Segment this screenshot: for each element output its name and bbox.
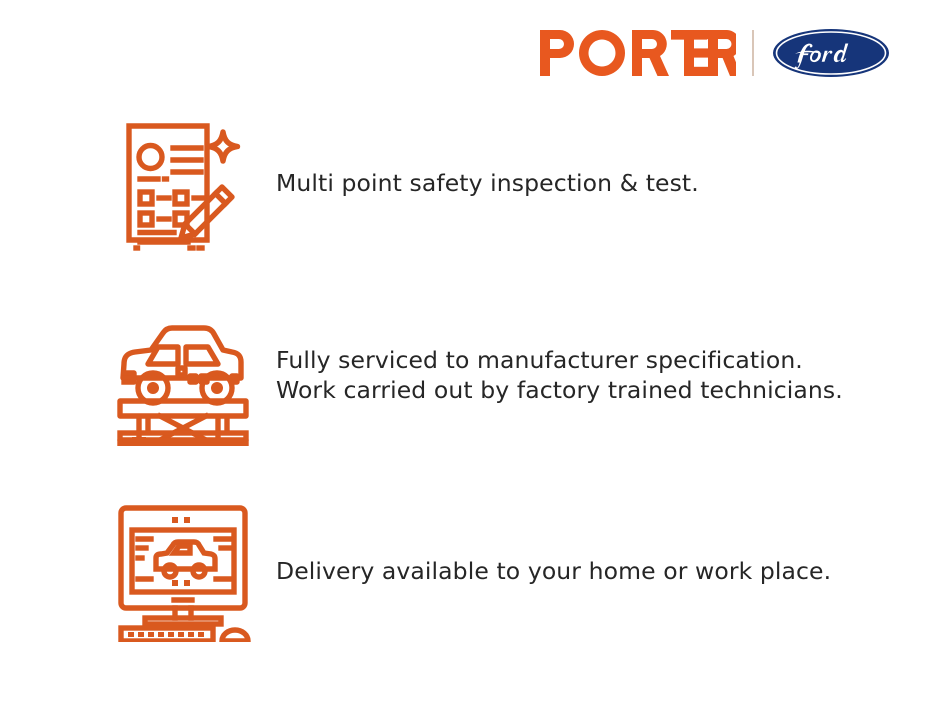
- feature-row: Multi point safety inspection & test.: [110, 108, 900, 258]
- porter-wordmark: [540, 22, 736, 84]
- ford-logo-icon: [772, 28, 890, 78]
- monitor-car-delivery-icon: [110, 498, 256, 644]
- feature-row: Delivery available to your home or work …: [110, 496, 900, 646]
- feature-text: Multi point safety inspection & test.: [276, 168, 699, 198]
- clipboard-inspection-icon: [110, 110, 256, 256]
- porter-logotype-icon: [540, 30, 736, 76]
- feature-list: Multi point safety inspection & test.: [110, 108, 900, 646]
- feature-text: Delivery available to your home or work …: [276, 556, 831, 586]
- brand-divider: [752, 30, 754, 76]
- brand-lockup: [540, 22, 890, 84]
- car-on-lift-icon: [110, 302, 256, 448]
- feature-text: Fully serviced to manufacturer specifica…: [276, 345, 843, 405]
- keyboard-keys-icon: [128, 632, 204, 637]
- feature-row: Fully serviced to manufacturer specifica…: [110, 300, 900, 450]
